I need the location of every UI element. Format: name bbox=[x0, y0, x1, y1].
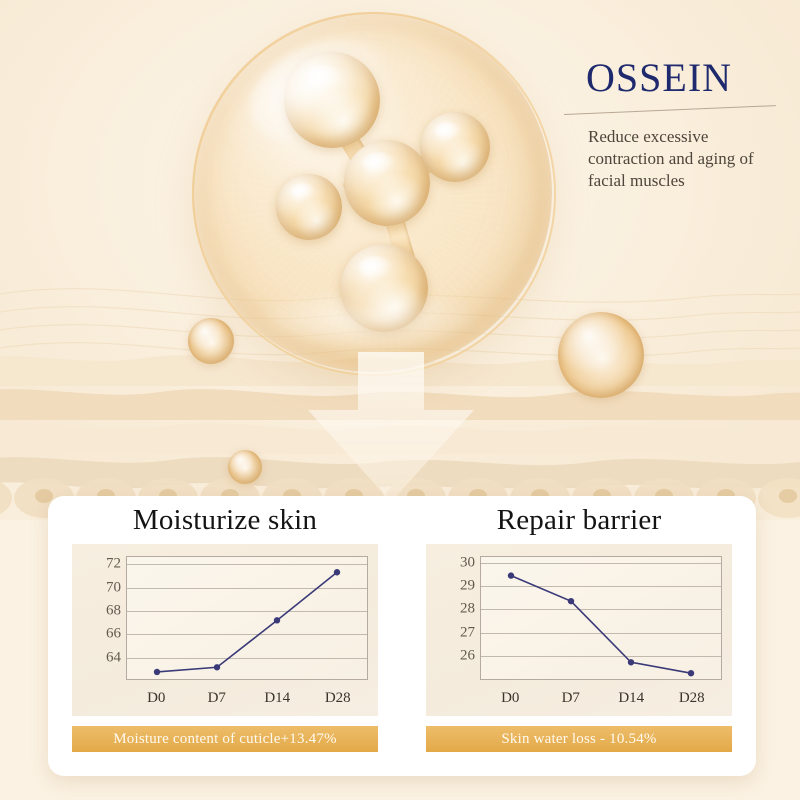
y-axis-tick-label: 72 bbox=[106, 556, 121, 573]
data-point bbox=[688, 670, 694, 676]
y-axis-tick-label: 28 bbox=[460, 601, 475, 618]
serum-droplet bbox=[228, 450, 262, 484]
brand-block: OSSEIN Reduce excessive contraction and … bbox=[586, 58, 786, 98]
chart-plot-area: 2627282930 bbox=[480, 556, 722, 680]
chart-title: Repair barrier bbox=[412, 504, 746, 537]
molecule-atom bbox=[420, 112, 490, 182]
x-axis-tick-label: D0 bbox=[126, 690, 187, 707]
y-axis-tick-label: 68 bbox=[106, 602, 121, 619]
serum-droplet bbox=[558, 312, 644, 398]
data-point bbox=[628, 659, 634, 665]
absorption-down-arrow bbox=[296, 352, 486, 512]
data-point bbox=[214, 664, 220, 670]
x-axis-tick-label: D28 bbox=[662, 690, 723, 707]
chart-title: Moisturize skin bbox=[58, 504, 392, 537]
data-point bbox=[508, 572, 514, 578]
y-axis-tick-label: 64 bbox=[106, 649, 121, 666]
chart-plot-panel: 6466687072 D0D7D14D28 bbox=[72, 544, 378, 716]
chart-panel-repair: Repair barrier 2627282930 D0D7D14D28 Ski… bbox=[412, 496, 746, 776]
x-axis-tick-label: D7 bbox=[187, 690, 248, 707]
serum-droplet bbox=[188, 318, 234, 364]
data-point bbox=[274, 617, 280, 623]
y-axis-tick-label: 26 bbox=[460, 647, 475, 664]
bubble-bottom-light bbox=[252, 288, 482, 350]
x-axis-tick-label: D14 bbox=[601, 690, 662, 707]
chart-x-axis-labels: D0D7D14D28 bbox=[480, 690, 722, 707]
y-axis-tick-label: 30 bbox=[460, 554, 475, 571]
x-axis-tick-label: D14 bbox=[247, 690, 308, 707]
chart-caption: Moisture content of cuticle+13.47% bbox=[72, 726, 378, 752]
chart-plot-panel: 2627282930 D0D7D14D28 bbox=[426, 544, 732, 716]
y-axis-tick-label: 29 bbox=[460, 578, 475, 595]
data-point bbox=[568, 598, 574, 604]
brand-name: OSSEIN bbox=[586, 58, 786, 98]
brand-divider bbox=[564, 105, 776, 115]
chart-panel-moisturize: Moisturize skin 6466687072 D0D7D14D28 Mo… bbox=[58, 496, 392, 776]
y-axis-tick-label: 66 bbox=[106, 626, 121, 643]
molecule-atom bbox=[276, 174, 342, 240]
chart-caption: Skin water loss - 10.54% bbox=[426, 726, 732, 752]
y-axis-tick-label: 70 bbox=[106, 579, 121, 596]
x-axis-tick-label: D28 bbox=[308, 690, 369, 707]
x-axis-tick-label: D7 bbox=[541, 690, 602, 707]
data-point bbox=[334, 569, 340, 575]
chart-plot-area: 6466687072 bbox=[126, 556, 368, 680]
brand-tagline: Reduce excessive contraction and aging o… bbox=[588, 126, 788, 191]
chart-series bbox=[481, 557, 721, 679]
results-card: Moisturize skin 6466687072 D0D7D14D28 Mo… bbox=[48, 496, 756, 776]
promo-infographic: OSSEIN Reduce excessive contraction and … bbox=[0, 0, 800, 800]
chart-x-axis-labels: D0D7D14D28 bbox=[126, 690, 368, 707]
chart-series bbox=[127, 557, 367, 679]
y-axis-tick-label: 27 bbox=[460, 624, 475, 641]
molecule-atom bbox=[344, 140, 430, 226]
x-axis-tick-label: D0 bbox=[480, 690, 541, 707]
data-point bbox=[154, 669, 160, 675]
